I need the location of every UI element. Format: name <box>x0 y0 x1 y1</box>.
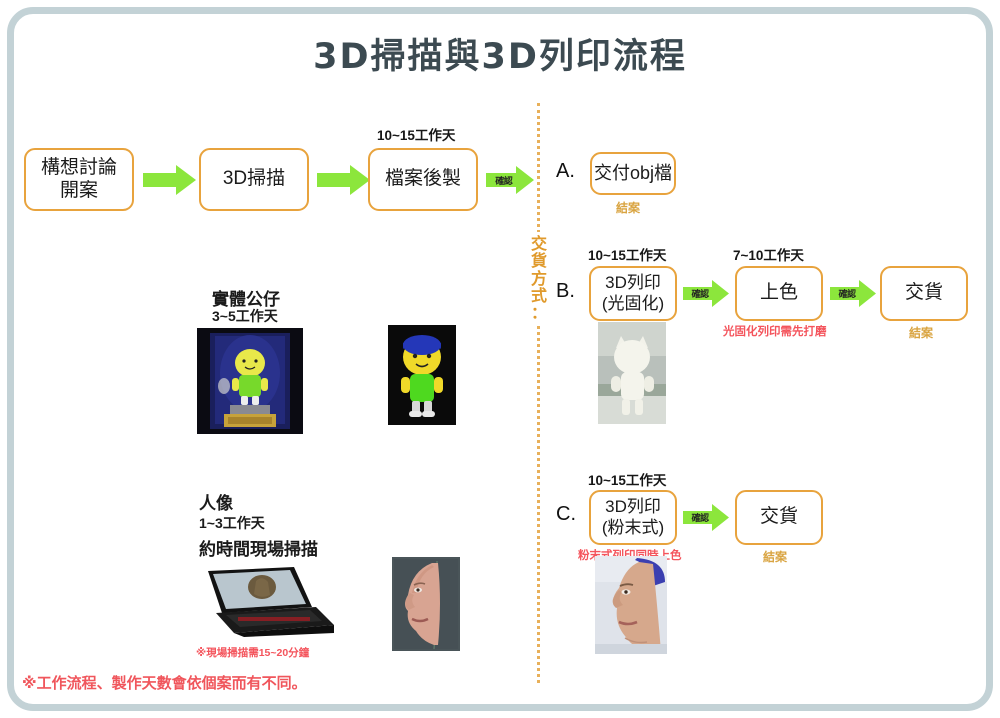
photo-face-scan-profile <box>392 557 460 651</box>
branch-letter-a: A. <box>556 160 575 183</box>
arrow-label-confirm: 確認 <box>486 166 534 194</box>
step-box-file-postprocess[interactable]: 檔案後製 <box>368 148 478 211</box>
branch-a-step-deliver-obj[interactable]: 交付obj檔 <box>590 152 676 195</box>
step-label-line1: 3D掃描 <box>223 168 285 190</box>
branch-letter-c: C. <box>556 503 576 526</box>
branch-b-day-label-print: 10~15工作天 <box>588 244 666 264</box>
step-label-line2: (光固化) <box>602 294 664 314</box>
delivery-method-divider <box>537 103 540 683</box>
step-label-line1: 構想討論 <box>41 157 117 179</box>
arrow-label-confirm: 確認 <box>830 280 876 307</box>
sample-figure-days: 3~5工作天 <box>212 306 278 326</box>
step-label-line1: 檔案後製 <box>385 168 461 190</box>
branch-letter-b: B. <box>556 280 575 303</box>
diagram-canvas: 3D掃描與3D列印流程 構想討論 開案 3D掃描 10~15工作天 檔案後製 確… <box>0 0 1000 718</box>
photo-laptop-scan <box>186 563 334 637</box>
arrow-discussion-to-scan <box>143 165 196 195</box>
vlabel-char-0: 交 <box>529 236 549 253</box>
arrow-label <box>143 165 196 195</box>
photo-painted-figure <box>388 325 456 425</box>
step-label-line1: 交付obj檔 <box>594 163 672 184</box>
arrow-label-confirm: 確認 <box>683 280 729 307</box>
vlabel-char-1: 貨 <box>529 253 549 270</box>
branch-b-step-print-sla[interactable]: 3D列印 (光固化) <box>589 266 677 321</box>
branch-b-end-label: 結案 <box>909 324 933 341</box>
arrow-label <box>317 165 370 195</box>
branch-b-arrow-1: 確認 <box>683 280 729 307</box>
step-box-3dscan[interactable]: 3D掃描 <box>199 148 309 211</box>
branch-c-step-shipping[interactable]: 交貨 <box>735 490 823 545</box>
step-label-line1: 3D列印 <box>605 273 661 293</box>
day-label-postprocess: 10~15工作天 <box>377 124 455 144</box>
vlabel-char-4: ： <box>529 305 549 322</box>
step-label-line1: 上色 <box>760 282 798 304</box>
photo-figurine-display-case <box>197 328 303 434</box>
branch-b-step-painting[interactable]: 上色 <box>735 266 823 321</box>
footnote: ※工作流程、製作天數會依個案而有不同。 <box>22 672 307 693</box>
photo-white-3d-print <box>598 322 666 424</box>
branch-c-end-label: 結案 <box>763 548 787 565</box>
page-title: 3D掃描與3D列印流程 <box>0 28 1000 79</box>
arrow-scan-to-postprocess <box>317 165 370 195</box>
branch-c-day-label-print: 10~15工作天 <box>588 469 666 489</box>
step-label-line1: 3D列印 <box>605 497 661 517</box>
step-label-line2: (粉末式) <box>602 518 664 538</box>
branch-c-step-print-powder[interactable]: 3D列印 (粉末式) <box>589 490 677 545</box>
branch-a-end-label: 結案 <box>616 199 640 216</box>
arrow-label-confirm: 確認 <box>683 504 729 531</box>
step-label-line1: 交貨 <box>760 506 798 528</box>
sample-portrait-note: 約時間現場掃描 <box>199 535 318 560</box>
branch-b-day-label-paint: 7~10工作天 <box>733 244 804 264</box>
delivery-method-vertical-label: 交 貨 方 式 ： <box>529 232 549 326</box>
vlabel-char-2: 方 <box>529 271 549 288</box>
branch-b-red-note-sanding: 光固化列印需先打磨 <box>723 323 827 339</box>
sample-portrait-red-note: ※現場掃描需15~20分鐘 <box>196 645 309 660</box>
photo-powder-printed-head <box>595 556 667 654</box>
arrow-postprocess-to-delivery: 確認 <box>486 166 534 194</box>
page-border <box>7 7 993 711</box>
branch-c-arrow-1: 確認 <box>683 504 729 531</box>
step-box-discussion[interactable]: 構想討論 開案 <box>24 148 134 211</box>
step-label-line1: 交貨 <box>905 282 943 304</box>
vlabel-char-3: 式 <box>529 288 549 305</box>
branch-b-step-shipping[interactable]: 交貨 <box>880 266 968 321</box>
sample-portrait-heading: 人像 <box>199 489 233 514</box>
branch-b-arrow-2: 確認 <box>830 280 876 307</box>
step-label-line2: 開案 <box>60 180 98 202</box>
sample-portrait-days: 1~3工作天 <box>199 513 265 533</box>
